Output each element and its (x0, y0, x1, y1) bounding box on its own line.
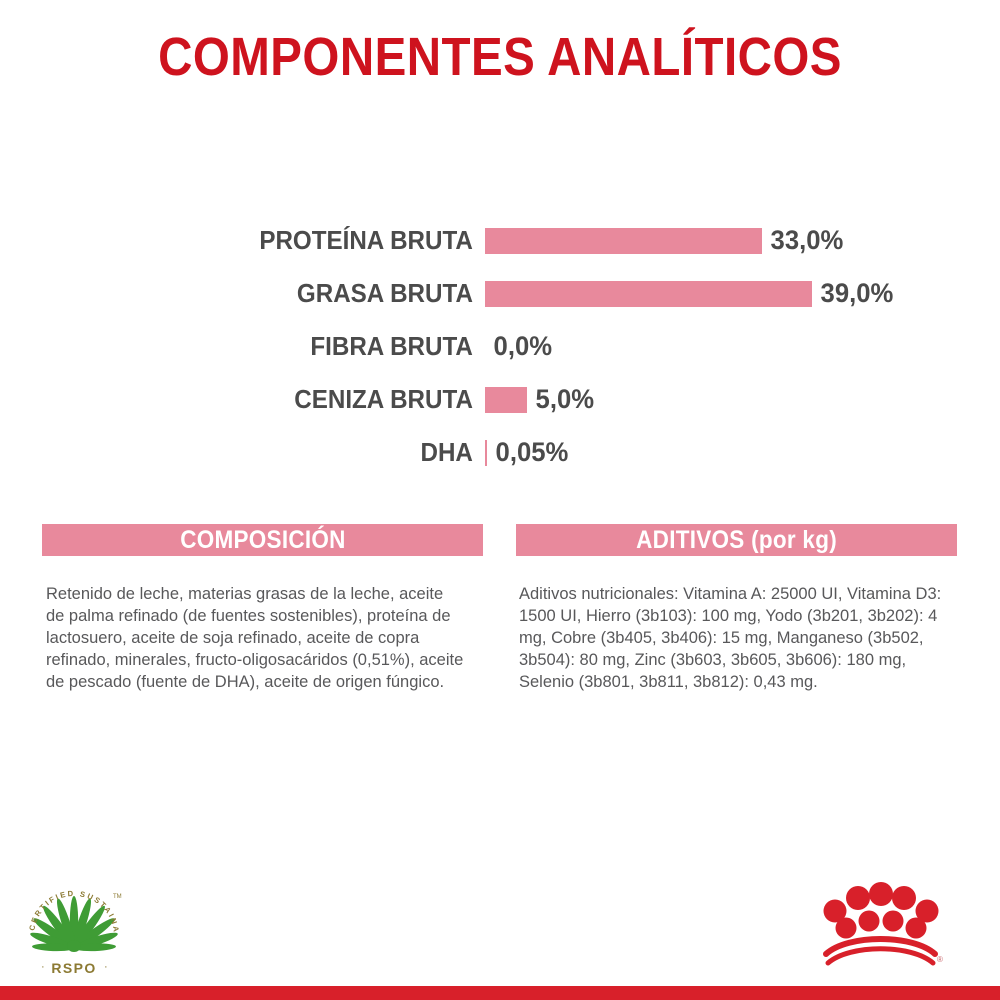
bar-label-ceniza-bruta: CENIZA BRUTA (34, 384, 485, 415)
table-row: DHA 0,05% (0, 426, 1000, 479)
bar-label-fibra-bruta: FIBRA BRUTA (34, 331, 485, 362)
additives-body: Aditivos nutricionales: Vitamina A: 2500… (516, 583, 957, 693)
crown-icon: ® (818, 878, 943, 968)
bar-label-dha: DHA (34, 437, 485, 468)
bar-track-ceniza-bruta: 5,0% (485, 387, 598, 413)
table-row: PROTEÍNA BRUTA 33,0% (0, 214, 1000, 267)
rspo-icon: CERTIFIED SUSTAINABLE PALM OIL RSPO · · … (20, 880, 128, 980)
registered-trademark-mark: ® (937, 955, 943, 964)
bar-value-ceniza-bruta: 5,0% (527, 384, 594, 415)
composition-header-label: COMPOSICIÓN (180, 526, 345, 555)
crown-arc-lower (828, 949, 933, 963)
additives-section: ADITIVOS (por kg) Aditivos nutricionales… (516, 524, 957, 693)
nutrition-panel: COMPONENTES ANALÍTICOS PROTEÍNA BRUTA 33… (0, 0, 1000, 1000)
bar-track-dha: 0,05% (485, 440, 573, 466)
additives-header-label: ADITIVOS (por kg) (636, 526, 837, 555)
bar-track-proteina-bruta: 33,0% (485, 228, 848, 254)
composition-header: COMPOSICIÓN (42, 524, 483, 556)
bar-value-fibra-bruta: 0,0% (485, 331, 552, 362)
bar-label-grasa-bruta: GRASA BRUTA (34, 278, 485, 309)
bar-fill-ceniza-bruta (485, 387, 527, 413)
analytical-components-chart: PROTEÍNA BRUTA 33,0% GRASA BRUTA 39,0% F… (0, 214, 1000, 479)
composition-body: Retenido de leche, materias grasas de la… (42, 583, 483, 693)
bar-fill-grasa-bruta (485, 281, 812, 307)
bar-value-proteina-bruta: 33,0% (762, 225, 843, 256)
page-title: COMPONENTES ANALÍTICOS (60, 26, 940, 88)
table-row: CENIZA BRUTA 5,0% (0, 373, 1000, 426)
info-columns: COMPOSICIÓN Retenido de leche, materias … (42, 524, 958, 693)
bar-value-grasa-bruta: 39,0% (812, 278, 893, 309)
rspo-logo: CERTIFIED SUSTAINABLE PALM OIL RSPO · · … (20, 880, 128, 980)
additives-header: ADITIVOS (por kg) (516, 524, 957, 556)
bar-track-grasa-bruta: 39,0% (485, 281, 898, 307)
bar-label-proteina-bruta: PROTEÍNA BRUTA (34, 225, 485, 256)
composition-section: COMPOSICIÓN Retenido de leche, materias … (42, 524, 483, 693)
table-row: FIBRA BRUTA 0,0% (0, 320, 1000, 373)
rspo-wordmark: RSPO (51, 960, 96, 976)
royal-canin-logo: ® (818, 878, 943, 968)
table-row: GRASA BRUTA 39,0% (0, 267, 1000, 320)
bottom-accent-strip (0, 986, 1000, 1000)
bar-fill-proteina-bruta (485, 228, 762, 254)
bar-value-dha: 0,05% (487, 437, 568, 468)
bar-track-fibra-bruta: 0,0% (485, 334, 556, 360)
rspo-right-dot: · (104, 961, 108, 973)
rspo-trademark: TM (113, 894, 122, 900)
rspo-left-dot: · (41, 961, 45, 973)
